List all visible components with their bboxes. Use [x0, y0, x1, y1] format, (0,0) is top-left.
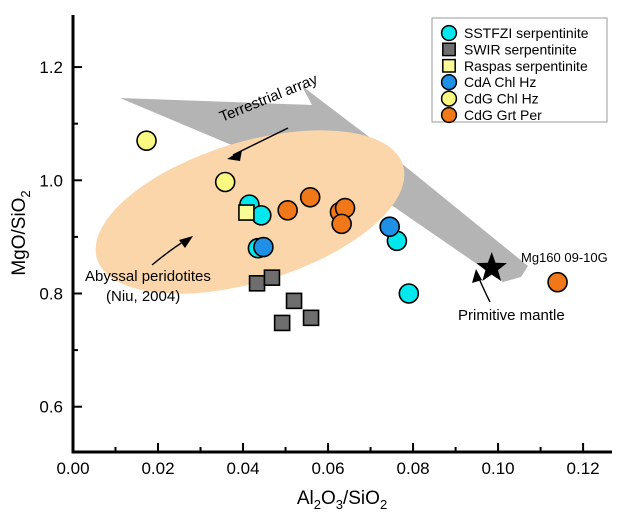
- annotation-abyssal-line2: (Niu, 2004): [106, 288, 180, 305]
- y-axis-title: MgO/SiO2: [9, 190, 33, 275]
- x-tick-label: 0.08: [397, 459, 430, 478]
- data-point: [137, 131, 156, 150]
- data-point: [254, 238, 273, 257]
- x-title-sub3: 3: [336, 497, 343, 512]
- legend-label: SWIR serpentinite: [464, 41, 577, 57]
- data-point: [304, 310, 319, 325]
- chart-root: Terrestrial array Abyssal peridotites (N…: [0, 0, 623, 519]
- x-title-al: Al: [297, 488, 314, 509]
- legend-label: CdG Chl Hz: [464, 91, 539, 107]
- y-tick-label: 0.8: [39, 285, 63, 304]
- legend-label: Raspas serpentinite: [464, 58, 588, 74]
- x-tick-label: 0.12: [567, 459, 600, 478]
- legend-label: CdA Chl Hz: [464, 74, 536, 90]
- legend-marker: [442, 26, 457, 41]
- legend-marker: [442, 75, 457, 90]
- legend-marker: [442, 108, 457, 123]
- data-point: [239, 205, 254, 220]
- data-point: [301, 188, 320, 207]
- annotation-sample-label: Mg160 09-10G: [521, 250, 608, 265]
- y-tick-label: 1.2: [39, 58, 63, 77]
- x-tick-label: 0.04: [226, 459, 259, 478]
- x-tick-label: 0.10: [482, 459, 515, 478]
- series-raspas-serpentinite: [239, 205, 254, 220]
- legend-marker: [443, 43, 455, 55]
- y-tick-label: 1.0: [39, 171, 63, 190]
- data-point: [216, 172, 235, 191]
- data-point: [264, 270, 279, 285]
- data-point: [332, 214, 351, 233]
- legend-label: CdG Grt Per: [464, 107, 542, 123]
- data-point: [380, 217, 399, 236]
- annotation-abyssal-line1: Abyssal peridotites: [85, 268, 211, 285]
- data-point: [548, 273, 567, 292]
- y-tick-label: 0.6: [39, 398, 63, 417]
- y-title-sub2: 2: [18, 190, 33, 197]
- data-point: [278, 201, 297, 220]
- legend: SSTFZI serpentiniteSWIR serpentiniteRasp…: [432, 18, 607, 123]
- x-tick-label: 0.02: [141, 459, 174, 478]
- data-point: [287, 293, 302, 308]
- x-axis-title: Al2O3/SiO2: [297, 488, 387, 512]
- y-title-main: MgO/SiO: [9, 198, 30, 276]
- data-point: [399, 284, 418, 303]
- x-tick-label: 0.06: [312, 459, 345, 478]
- legend-marker: [443, 60, 455, 72]
- x-title-sio: SiO: [348, 488, 380, 509]
- legend-label: SSTFZI serpentinite: [464, 25, 589, 41]
- scatter-plot: Terrestrial array Abyssal peridotites (N…: [0, 0, 623, 519]
- legend-marker: [442, 91, 457, 106]
- x-title-sub2: 2: [314, 497, 321, 512]
- annotation-primitive-mantle-label: Primitive mantle: [458, 307, 565, 324]
- x-title-o: O: [321, 488, 336, 509]
- x-tick-label: 0.00: [56, 459, 89, 478]
- data-point: [275, 315, 290, 330]
- data-point: [250, 276, 265, 291]
- x-title-sub2b: 2: [380, 497, 387, 512]
